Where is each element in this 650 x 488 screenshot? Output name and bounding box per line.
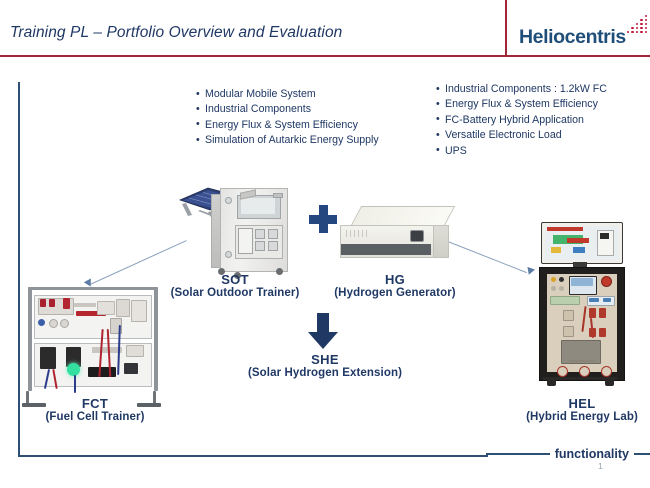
caption-fct-full: (Fuel Cell Trainer) — [0, 411, 190, 423]
page-title: Training PL – Portfolio Overview and Eva… — [10, 24, 342, 42]
hel-monitor — [541, 222, 623, 264]
bullet-list-right: Industrial Components : 1.2kW FC Energy … — [436, 82, 607, 159]
caption-hel: HEL (Hybrid Energy Lab) — [492, 396, 650, 423]
caption-hg-abbr: HG — [310, 272, 480, 287]
heliocentris-logo: Heliocentris — [519, 14, 649, 56]
hel-cabinet — [539, 267, 625, 381]
bullet-item: Industrial Components : 1.2kW FC — [436, 82, 607, 97]
logo-dot-matrix-icon — [623, 14, 649, 36]
caption-she-abbr: SHE — [230, 352, 420, 367]
bullet-item: UPS — [436, 144, 607, 159]
caption-she: SHE (Solar Hydrogen Extension) — [230, 352, 420, 379]
hg-top-face — [350, 206, 455, 227]
header-divider — [505, 0, 507, 56]
bullet-item: Energy Flux & System Efficiency — [196, 118, 379, 133]
bullet-item: Industrial Components — [196, 102, 379, 117]
caption-she-full: (Solar Hydrogen Extension) — [230, 367, 420, 379]
footer: functionality — [486, 443, 650, 465]
caption-hg-full: (Hydrogen Generator) — [310, 287, 480, 299]
solar-outdoor-trainer-photo — [178, 186, 296, 282]
hybrid-energy-lab-photo — [533, 222, 629, 392]
caption-fct: FCT (Fuel Cell Trainer) — [0, 396, 190, 423]
sot-cabinet — [220, 188, 288, 272]
caption-hg: HG (Hydrogen Generator) — [310, 272, 480, 299]
down-arrow-icon — [308, 313, 338, 349]
bullet-item: Energy Flux & System Efficiency — [436, 97, 607, 112]
caption-sot: SOT (Solar Outdoor Trainer) — [150, 272, 320, 299]
bullet-item: FC-Battery Hybrid Application — [436, 113, 607, 128]
caption-hel-abbr: HEL — [492, 396, 650, 411]
caption-sot-full: (Solar Outdoor Trainer) — [150, 287, 320, 299]
footer-rule-left — [486, 453, 550, 455]
hg-display-port — [410, 230, 424, 242]
logo-wordmark: Heliocentris — [519, 26, 626, 49]
caption-sot-abbr: SOT — [150, 272, 320, 287]
caption-fct-abbr: FCT — [0, 396, 190, 411]
footer-label: functionality — [555, 447, 629, 461]
hel-front-panel — [547, 274, 617, 372]
plus-icon — [309, 205, 337, 233]
bullet-item: Modular Mobile System — [196, 87, 379, 102]
bullet-item: Simulation of Autarkic Energy Supply — [196, 133, 379, 148]
hel-monitor-screen — [545, 226, 619, 260]
footer-rule-right — [634, 453, 650, 455]
caption-hel-full: (Hybrid Energy Lab) — [492, 411, 650, 423]
slide-canvas: Training PL – Portfolio Overview and Eva… — [0, 0, 650, 488]
fuel-cell-trainer-photo — [22, 285, 167, 410]
bottom-bracket-horizontal-line — [18, 455, 488, 457]
bullet-item: Versatile Electronic Load — [436, 128, 607, 143]
hydrogen-generator-photo — [340, 206, 450, 268]
page-number: 1 — [598, 461, 603, 471]
bullet-list-left: Modular Mobile System Industrial Compone… — [196, 87, 379, 149]
hg-base-strip — [341, 244, 431, 255]
